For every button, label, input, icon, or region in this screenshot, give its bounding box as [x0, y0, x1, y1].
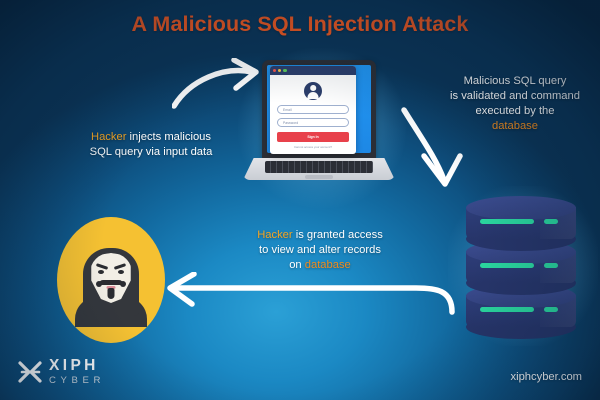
- note-hacker-injects: Hacker injects malicious SQL query via i…: [56, 130, 246, 160]
- note-query-validated: Malicious SQL query is validated and com…: [432, 74, 598, 134]
- sign-in-button[interactable]: Sign In: [277, 132, 349, 142]
- laptop-keyboard: [265, 161, 373, 173]
- close-icon[interactable]: [273, 69, 276, 72]
- note-left-line2: SQL query via input data: [90, 146, 213, 158]
- maximize-icon[interactable]: [283, 69, 286, 72]
- page-title: A Malicious SQL Injection Attack: [0, 12, 600, 37]
- note-right-highlight: database: [492, 120, 538, 132]
- note-bottom-line3-prefix: on: [289, 259, 305, 271]
- logo-name-top: XIPH: [49, 358, 105, 373]
- note-right-line1: Malicious SQL query: [464, 75, 567, 87]
- brand-logo[interactable]: XIPH CYBER: [18, 357, 138, 391]
- note-bottom-line1-rest: is granted access: [293, 229, 383, 241]
- minimize-icon[interactable]: [278, 69, 281, 72]
- infographic-canvas: A Malicious SQL Injection Attack: [0, 0, 600, 400]
- note-access-granted: Hacker is granted access to view and alt…: [218, 228, 422, 273]
- laptop-trackpad: [305, 175, 333, 179]
- logo-wordmark: XIPH CYBER: [49, 358, 105, 387]
- note-right-line3: executed by the: [476, 105, 555, 117]
- note-bottom-line3-highlight: database: [305, 259, 351, 271]
- login-window[interactable]: Email Password Sign In Cannot access you…: [270, 66, 356, 154]
- database-illustration: [466, 196, 576, 336]
- note-bottom-line2: to view and alter records: [259, 244, 381, 256]
- arrow-database-to-hacker: [160, 272, 460, 324]
- xiph-x-mark-icon: [18, 360, 44, 386]
- note-bottom-highlight: Hacker: [257, 229, 292, 241]
- email-field[interactable]: Email: [277, 105, 349, 114]
- password-field[interactable]: Password: [277, 118, 349, 127]
- database-disk-top: [466, 196, 576, 248]
- note-left-highlight: Hacker: [91, 131, 126, 143]
- window-titlebar: [270, 66, 356, 75]
- website-url[interactable]: xiphcyber.com: [510, 371, 582, 383]
- note-left-line1-rest: injects malicious: [126, 131, 211, 143]
- avatar: [277, 82, 349, 100]
- hacker-illustration: [57, 217, 165, 343]
- login-form: Email Password Sign In Cannot access you…: [270, 75, 356, 154]
- logo-name-bottom: CYBER: [49, 375, 105, 387]
- note-right-line2: is validated and command: [450, 90, 580, 102]
- cannot-access-link[interactable]: Cannot access your account?: [277, 145, 349, 149]
- user-icon: [304, 82, 322, 100]
